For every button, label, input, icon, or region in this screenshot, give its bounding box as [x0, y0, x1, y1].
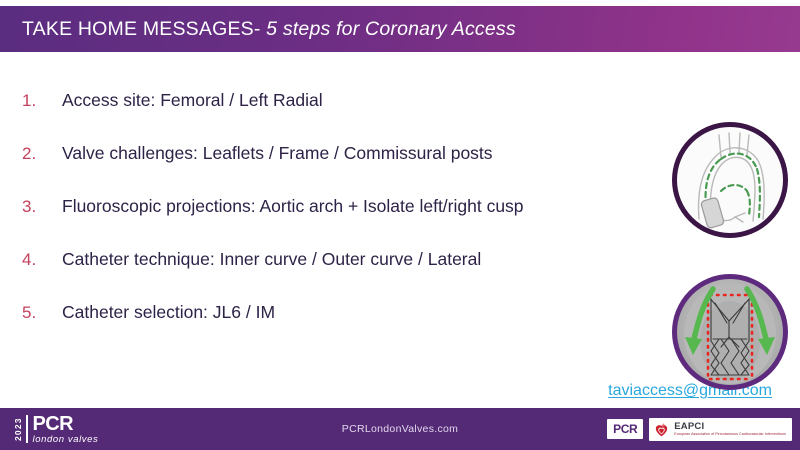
heart-icon	[653, 421, 670, 438]
list-item-label: Valve challenges: Leaflets / Frame / Com…	[62, 143, 493, 164]
pcr-badge: PCR	[607, 419, 643, 439]
tavi-stent-frame-icon	[677, 279, 783, 385]
logo-subtitle: london valves	[33, 435, 99, 445]
list-item: 5. Catheter selection: JL6 / IM	[22, 302, 662, 355]
list-item: 1. Access site: Femoral / Left Radial	[22, 90, 662, 143]
list-item-label: Catheter selection: JL6 / IM	[62, 302, 275, 323]
logo-wordmark: PCR london valves	[33, 414, 99, 445]
list-item-number: 1.	[22, 91, 62, 111]
valve-device-icon	[700, 197, 724, 229]
slide-footer-bar: 2023 PCR london valves PCRLondonValves.c…	[0, 408, 800, 450]
eapci-badge: EAPCI European Association of Percutaneo…	[649, 418, 792, 441]
footer-badges: PCR EAPCI European Association of Percut…	[607, 418, 792, 441]
fluoroscopic-stent-figure	[672, 274, 788, 390]
page-title-italic: 5 steps for Coronary Access	[261, 18, 516, 40]
list-item: 4. Catheter technique: Inner curve / Out…	[22, 249, 662, 302]
list-item: 2. Valve challenges: Leaflets / Frame / …	[22, 143, 662, 196]
eapci-wordmark: EAPCI European Association of Percutaneo…	[674, 422, 786, 437]
logo-year: 2023	[14, 415, 23, 443]
eapci-subtitle: European Association of Percutaneous Car…	[674, 433, 786, 437]
list-item-label: Fluoroscopic projections: Aortic arch + …	[62, 196, 524, 217]
list-item-number: 3.	[22, 197, 62, 217]
pcr-london-valves-logo: 2023 PCR london valves	[14, 414, 98, 444]
list-item-number: 2.	[22, 144, 62, 164]
list-item-label: Catheter technique: Inner curve / Outer …	[62, 249, 481, 270]
eapci-name: EAPCI	[674, 422, 786, 432]
take-home-messages-list: 1. Access site: Femoral / Left Radial 2.…	[22, 90, 662, 355]
slide-header-bar: TAKE HOME MESSAGES- 5 steps for Coronary…	[0, 6, 800, 52]
aortic-arch-figure	[672, 122, 788, 238]
logo-brand: PCR	[33, 414, 99, 434]
aortic-arch-illustration-icon	[677, 127, 783, 233]
list-item-label: Access site: Femoral / Left Radial	[62, 90, 323, 111]
list-item-number: 4.	[22, 250, 62, 270]
slide-content: 1. Access site: Femoral / Left Radial 2.…	[0, 52, 800, 400]
page-title: TAKE HOME MESSAGES- 5 steps for Coronary…	[22, 18, 516, 41]
page-title-main: TAKE HOME MESSAGES-	[22, 18, 261, 40]
logo-divider	[26, 415, 28, 443]
list-item: 3. Fluoroscopic projections: Aortic arch…	[22, 196, 662, 249]
list-item-number: 5.	[22, 303, 62, 323]
